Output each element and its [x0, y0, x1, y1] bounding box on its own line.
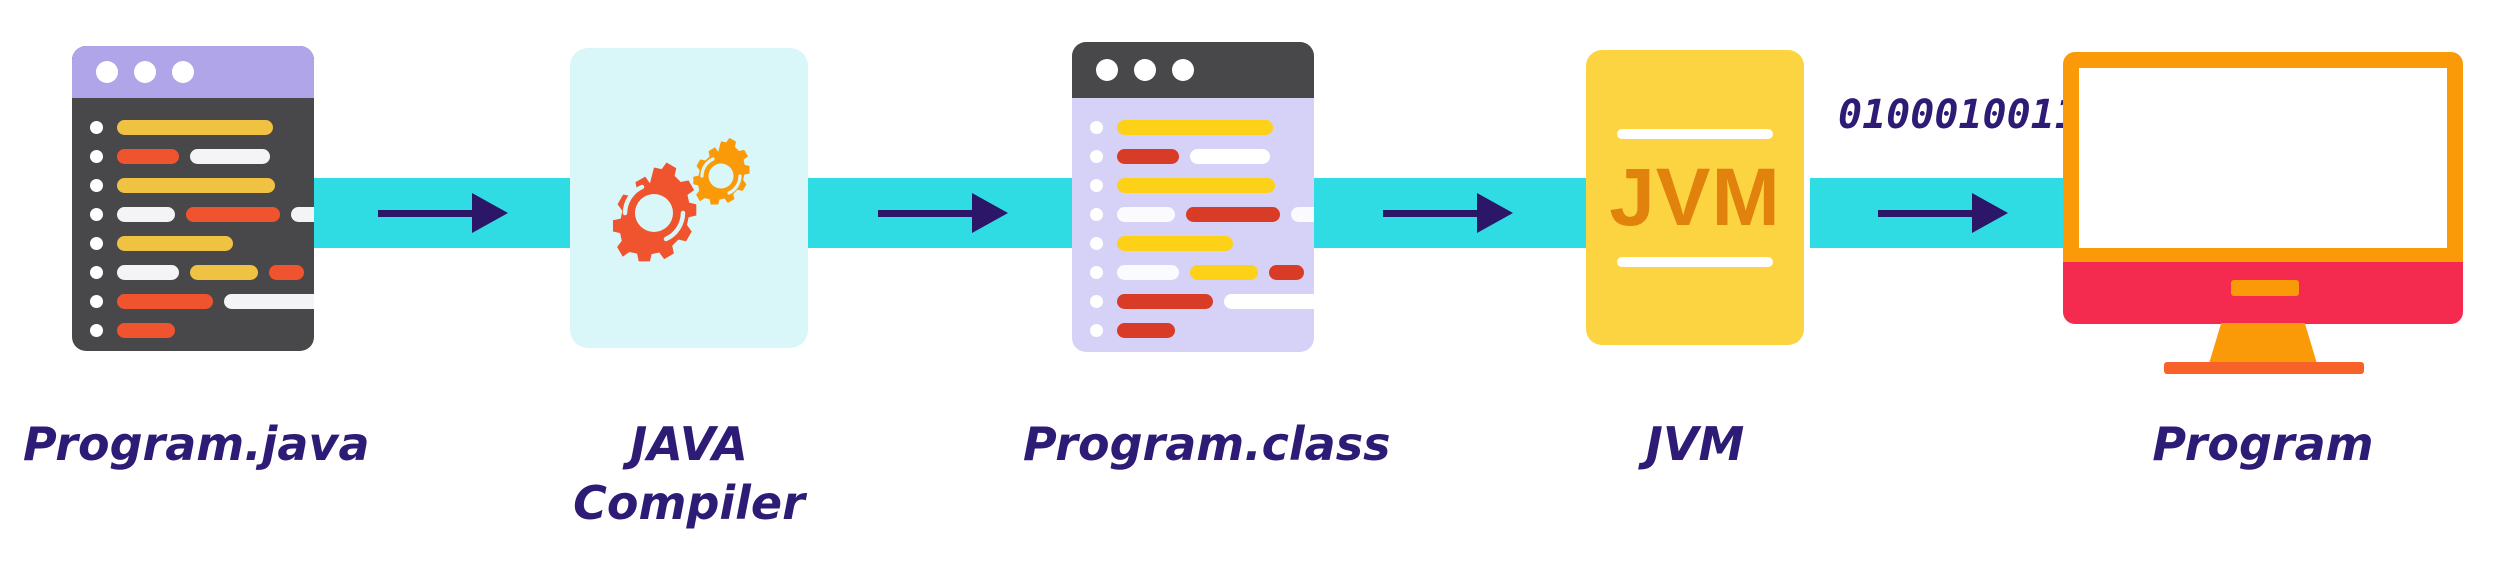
code-line — [1090, 207, 1314, 222]
monitor-bezel — [2063, 52, 2463, 264]
bytecode-window-icon — [1072, 42, 1314, 352]
window-code-body — [72, 98, 314, 351]
window-dot-1 — [1096, 59, 1118, 81]
window-dot-3 — [172, 61, 194, 83]
code-line — [90, 178, 286, 193]
source-code-window-icon — [72, 46, 314, 351]
jvm-rule-bottom — [1617, 257, 1774, 267]
code-line-bullet — [1090, 150, 1103, 163]
monitor-stand-neck — [2208, 323, 2318, 367]
monitor-power-indicator — [2231, 280, 2299, 296]
code-line-segment — [1291, 207, 1314, 222]
code-line-bullet — [1090, 237, 1103, 250]
code-line-segment — [291, 207, 314, 222]
code-line — [90, 120, 284, 135]
stage-label-jvm: JVM — [1525, 415, 1865, 474]
code-line-bullet — [90, 121, 103, 134]
code-line-bullet — [1090, 266, 1103, 279]
window-dot-2 — [1134, 59, 1156, 81]
code-line — [90, 265, 314, 280]
code-line-segment — [117, 236, 233, 251]
stage-label-program-java: Program.java — [23, 415, 363, 474]
window-code-body — [1072, 98, 1314, 352]
code-line-segment — [1117, 265, 1179, 280]
code-line-segment — [117, 265, 179, 280]
jvm-label-text: JVM — [1609, 157, 1781, 239]
code-line-segment — [1190, 265, 1258, 280]
code-line-segment — [1117, 149, 1179, 164]
code-line — [1090, 323, 1186, 338]
code-line-bullet — [90, 266, 103, 279]
code-line-segment — [190, 265, 258, 280]
code-line-bullet — [90, 208, 103, 221]
stage-label-java-compiler: JAVA Compiler — [519, 415, 859, 533]
code-line — [90, 323, 186, 338]
code-line-bullet — [90, 237, 103, 250]
code-line-segment — [117, 207, 175, 222]
code-line-bullet — [90, 324, 103, 337]
arrow-4 — [1878, 193, 2008, 233]
code-line-bullet — [1090, 324, 1103, 337]
window-titlebar — [72, 46, 314, 98]
monitor-stand-foot — [2164, 362, 2364, 374]
code-line-segment — [1117, 207, 1175, 222]
code-line-bullet — [1090, 179, 1103, 192]
code-line — [90, 294, 314, 309]
code-line — [1090, 178, 1286, 193]
code-line-segment — [117, 294, 213, 309]
code-line-segment — [190, 149, 270, 164]
code-line-segment — [117, 178, 275, 193]
code-line-segment — [186, 207, 280, 222]
code-line-segment — [1269, 265, 1304, 280]
code-line-segment — [1186, 207, 1280, 222]
code-line — [90, 236, 244, 251]
stage-label-program: Program — [2093, 415, 2433, 474]
code-line-segment — [1117, 236, 1233, 251]
code-line-segment — [1117, 323, 1175, 338]
arrow-2 — [878, 193, 1008, 233]
code-line-bullet — [1090, 121, 1103, 134]
code-line — [90, 149, 281, 164]
code-line — [1090, 120, 1284, 135]
code-line-segment — [1117, 120, 1273, 135]
code-line-bullet — [90, 179, 103, 192]
code-line-segment — [269, 265, 304, 280]
code-line-bullet — [1090, 208, 1103, 221]
arrow-3 — [1383, 193, 1513, 233]
window-dot-1 — [96, 61, 118, 83]
arrow-1 — [378, 193, 508, 233]
jvm-rule-top — [1617, 129, 1774, 139]
code-line-bullet — [90, 295, 103, 308]
code-line-segment — [224, 294, 314, 309]
stage-label-program-class: Program.class — [1023, 415, 1363, 474]
code-line-segment — [117, 149, 179, 164]
code-line — [1090, 149, 1281, 164]
window-titlebar — [1072, 42, 1314, 98]
code-line-segment — [1117, 178, 1275, 193]
binary-stream-text: 0100010011 — [1838, 92, 2079, 138]
code-line — [1090, 294, 1314, 309]
monitor-icon — [2063, 52, 2463, 352]
gear-small-icon — [693, 138, 749, 205]
code-line-segment — [1224, 294, 1314, 309]
window-dot-2 — [134, 61, 156, 83]
code-line — [90, 207, 314, 222]
code-line-segment — [1190, 149, 1270, 164]
code-line — [1090, 236, 1244, 251]
code-line-bullet — [90, 150, 103, 163]
gear-large-icon — [613, 163, 696, 262]
code-line-segment — [1117, 294, 1213, 309]
code-line — [1090, 265, 1314, 280]
code-line-segment — [117, 120, 273, 135]
gears-icon — [588, 120, 788, 270]
code-line-segment — [117, 323, 175, 338]
window-dot-3 — [1172, 59, 1194, 81]
diagram-canvas: JVM 0100010011 Program.java JAVA Compile… — [0, 0, 2501, 583]
code-line-bullet — [1090, 295, 1103, 308]
jvm-card-icon: JVM — [1586, 50, 1804, 345]
